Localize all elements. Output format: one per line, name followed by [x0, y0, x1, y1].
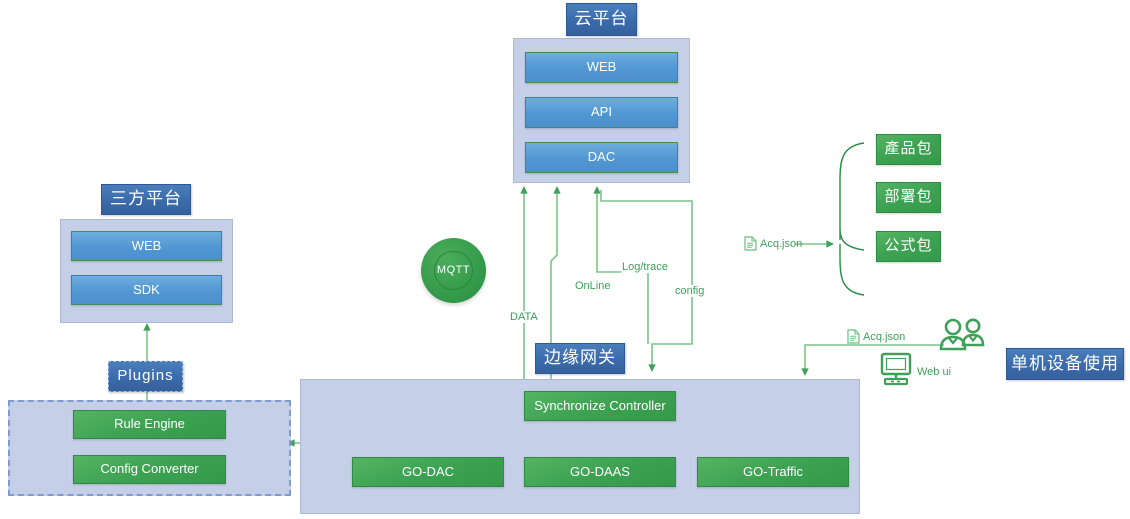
third-party-block-sdk[interactable]: SDK	[71, 275, 222, 305]
service-go-traffic[interactable]: GO-Traffic	[697, 457, 849, 487]
wire-label-log-trace-text: Log/trace	[622, 261, 668, 273]
service-go-traffic-label: GO-Traffic	[743, 465, 803, 479]
acq-json-gateway-label: Acq.json	[863, 331, 905, 343]
wire-label-online: OnLine	[574, 280, 611, 292]
edge-gateway-caption: 边缘网关	[535, 343, 625, 374]
cloud-platform-block-dac-label: DAC	[588, 150, 615, 164]
wire-label-config-text: config	[675, 285, 704, 297]
synchronize-controller-label: Synchronize Controller	[534, 399, 666, 413]
plugins-caption-text: Plugins	[117, 368, 173, 385]
plugins-block-rule-engine[interactable]: Rule Engine	[73, 410, 226, 439]
cloud-platform-block-web[interactable]: WEB	[525, 52, 678, 83]
service-go-daas[interactable]: GO-DAAS	[524, 457, 676, 487]
document-icon	[847, 329, 860, 344]
package-product[interactable]: 產品包	[876, 134, 941, 165]
document-icon	[744, 236, 757, 251]
acq-json-gateway: Acq.json	[847, 329, 905, 344]
cloud-platform-block-api[interactable]: API	[525, 97, 678, 128]
wire-label-log-trace: Log/trace	[621, 261, 669, 273]
packages-brace-lower	[840, 244, 864, 295]
cloud-platform-block-api-label: API	[591, 105, 612, 119]
diagram-canvas: 云平台 WEB API DAC 三方平台 WEB SDK Plugins Rul…	[0, 0, 1130, 519]
package-formula[interactable]: 公式包	[876, 231, 941, 262]
wire-label-online-text: OnLine	[575, 280, 610, 292]
wire-config	[601, 190, 692, 368]
cloud-platform-block-dac[interactable]: DAC	[525, 142, 678, 173]
web-ui-label-group: Web ui	[917, 366, 951, 378]
web-ui-label: Web ui	[917, 366, 951, 378]
plugins-caption: Plugins	[108, 361, 183, 392]
acq-json-packages: Acq.json	[744, 236, 802, 251]
people-icon	[939, 318, 989, 357]
service-go-daas-label: GO-DAAS	[570, 465, 630, 479]
third-party-platform-caption: 三方平台	[101, 184, 191, 215]
wire-label-config: config	[674, 285, 705, 297]
service-go-dac[interactable]: GO-DAC	[352, 457, 504, 487]
packages-brace	[840, 143, 864, 250]
cloud-platform-caption-text: 云平台	[575, 10, 629, 29]
cloud-platform-block-web-label: WEB	[587, 60, 617, 74]
plugins-block-rule-engine-label: Rule Engine	[114, 417, 185, 431]
service-go-dac-label: GO-DAC	[402, 465, 454, 479]
cloud-platform-caption: 云平台	[566, 3, 637, 36]
standalone-usage-caption-text: 单机设备使用	[1011, 355, 1119, 374]
mqtt-broker-label-ring: MQTT	[434, 251, 472, 289]
acq-json-packages-label: Acq.json	[760, 238, 802, 250]
standalone-usage-caption: 单机设备使用	[1006, 348, 1124, 380]
mqtt-broker-label: MQTT	[437, 264, 470, 276]
wire-label-data: DATA	[509, 311, 539, 323]
package-product-label: 產品包	[884, 141, 932, 158]
package-deploy-label: 部署包	[884, 189, 932, 206]
third-party-platform-caption-text: 三方平台	[110, 190, 182, 209]
plugins-block-config-converter-label: Config Converter	[100, 462, 198, 476]
package-deploy[interactable]: 部署包	[876, 182, 941, 213]
monitor-icon	[880, 352, 914, 393]
mqtt-broker[interactable]: MQTT	[421, 238, 486, 303]
edge-gateway-caption-text: 边缘网关	[544, 349, 616, 368]
wire-label-data-text: DATA	[510, 311, 538, 323]
third-party-block-web[interactable]: WEB	[71, 231, 222, 261]
synchronize-controller[interactable]: Synchronize Controller	[524, 391, 676, 421]
plugins-block-config-converter[interactable]: Config Converter	[73, 455, 226, 484]
third-party-block-sdk-label: SDK	[133, 283, 160, 297]
third-party-block-web-label: WEB	[132, 239, 162, 253]
package-formula-label: 公式包	[884, 238, 932, 255]
